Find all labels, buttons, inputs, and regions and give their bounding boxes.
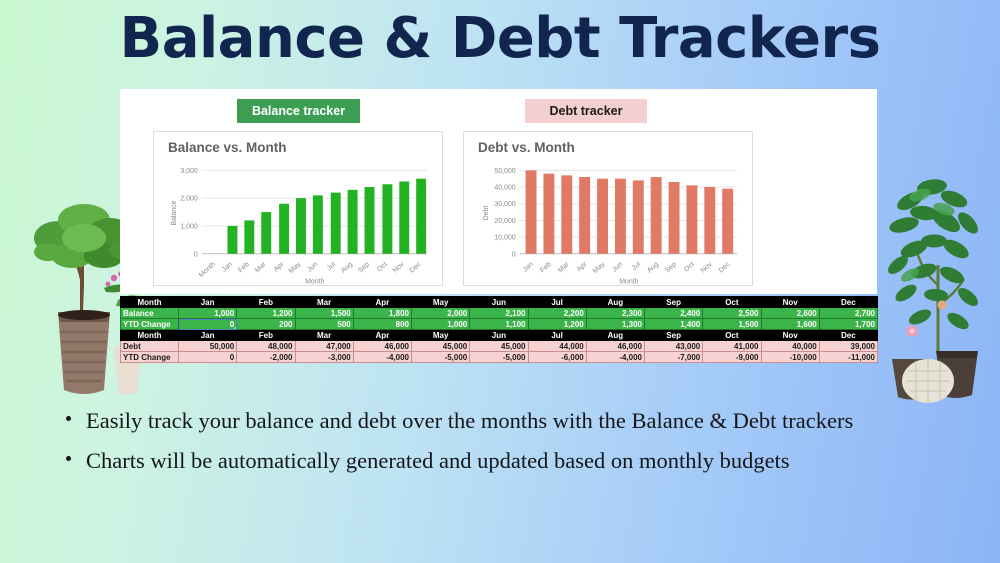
bullet-text: Easily track your balance and debt over … (86, 408, 853, 433)
debt-bar-chart: 50,000 40,000 30,000 20,000 10,000 0 Deb… (464, 158, 752, 286)
svg-text:Balance: Balance (171, 200, 178, 225)
table-cell[interactable]: 0 (179, 319, 237, 330)
table-cell[interactable]: 43,000 (645, 341, 703, 352)
table-header-cell: Mar (295, 297, 353, 308)
table-header-cell: Jun (470, 297, 528, 308)
table-header-cell: Sep (645, 297, 703, 308)
list-item: Easily track your balance and debt over … (60, 402, 940, 440)
table-cell[interactable]: 2,500 (703, 308, 761, 319)
table-header-cell: Apr (353, 330, 411, 341)
svg-text:3,000: 3,000 (180, 168, 198, 175)
svg-text:Jan: Jan (522, 261, 535, 274)
table-cell[interactable]: -4,000 (586, 352, 644, 363)
table-header-cell: Nov (761, 297, 819, 308)
table-cell[interactable]: 39,000 (819, 341, 877, 352)
svg-text:Aug: Aug (340, 261, 354, 275)
table-cell[interactable]: 1,600 (761, 319, 819, 330)
table-cell[interactable]: 2,400 (645, 308, 703, 319)
table-header-cell: Dec (819, 297, 877, 308)
svg-text:Month: Month (305, 279, 324, 286)
table-cell[interactable]: 1,000 (179, 308, 237, 319)
page-title: Balance & Debt Trackers (0, 8, 1000, 70)
svg-text:50,000: 50,000 (494, 168, 515, 175)
svg-text:Nov: Nov (700, 261, 714, 275)
table-cell[interactable]: -9,000 (703, 352, 761, 363)
svg-text:May: May (592, 261, 607, 275)
table-cell[interactable]: 47,000 (295, 341, 353, 352)
svg-text:Jul: Jul (631, 261, 643, 272)
svg-text:Debt: Debt (483, 206, 490, 221)
row-label-cell[interactable]: Debt (121, 341, 179, 352)
table-header-cell: Feb (237, 297, 295, 308)
table-cell[interactable]: -10,000 (761, 352, 819, 363)
table-cell[interactable]: 1,800 (353, 308, 411, 319)
table-cell[interactable]: -4,000 (353, 352, 411, 363)
debt-chart-card[interactable]: Debt vs. Month 50,000 40,000 30,000 20,0… (463, 131, 753, 286)
svg-text:Feb: Feb (237, 261, 251, 274)
table-cell[interactable]: 1,300 (586, 319, 644, 330)
table-cell[interactable]: 1,500 (295, 308, 353, 319)
table-header-cell: Mar (295, 330, 353, 341)
debt-chart-title: Debt vs. Month (478, 140, 575, 155)
svg-text:Month: Month (198, 261, 217, 279)
table-cell[interactable]: 2,200 (528, 308, 586, 319)
table-cell[interactable]: 41,000 (703, 341, 761, 352)
table-cell[interactable]: -5,000 (470, 352, 528, 363)
potted-plants-icon (880, 155, 1000, 405)
table-header-cell: Oct (703, 330, 761, 341)
table-cell[interactable]: 50,000 (179, 341, 237, 352)
table-header-cell: Dec (819, 330, 877, 341)
svg-text:Sep: Sep (357, 261, 371, 275)
table-cell[interactable]: -11,000 (819, 352, 877, 363)
table-row[interactable]: Balance1,0001,2001,5001,8002,0002,1002,2… (121, 308, 878, 319)
tracker-data-table[interactable]: MonthJanFebMarAprMayJunJulAugSepOctNovDe… (120, 296, 878, 363)
table-header-cell: Jul (528, 330, 586, 341)
svg-text:0: 0 (194, 251, 198, 258)
table-cell[interactable]: 46,000 (353, 341, 411, 352)
table-header-cell: May (412, 297, 470, 308)
table-header-cell: May (412, 330, 470, 341)
svg-text:Dec: Dec (718, 261, 732, 275)
svg-text:Nov: Nov (392, 261, 406, 275)
svg-text:Month: Month (619, 279, 638, 286)
table-cell[interactable]: 45,000 (412, 341, 470, 352)
svg-text:Jun: Jun (306, 261, 319, 274)
table-header-cell: Feb (237, 330, 295, 341)
balance-header-row: MonthJanFebMarAprMayJunJulAugSepOctNovDe… (121, 297, 878, 308)
table-cell[interactable]: 48,000 (237, 341, 295, 352)
table-cell[interactable]: 1,100 (470, 319, 528, 330)
svg-text:Jan: Jan (221, 261, 234, 274)
table-cell[interactable]: 45,000 (470, 341, 528, 352)
svg-text:30,000: 30,000 (494, 201, 515, 208)
svg-text:10,000: 10,000 (494, 235, 515, 242)
svg-text:Oct: Oct (683, 261, 696, 273)
table-header-cell: Aug (586, 330, 644, 341)
table-cell[interactable]: 500 (295, 319, 353, 330)
svg-text:Apr: Apr (273, 261, 286, 274)
svg-text:May: May (288, 261, 303, 275)
table-cell[interactable]: 1,500 (703, 319, 761, 330)
table-header-cell: Apr (353, 297, 411, 308)
table-cell[interactable]: 1,200 (237, 308, 295, 319)
table-cell[interactable]: 46,000 (586, 341, 644, 352)
svg-text:2,000: 2,000 (180, 196, 198, 203)
balance-chart-title: Balance vs. Month (168, 140, 287, 155)
table-cell[interactable]: 2,700 (819, 308, 877, 319)
table-cell[interactable]: -2,000 (237, 352, 295, 363)
svg-text:Apr: Apr (576, 261, 589, 274)
table-cell[interactable]: 1,200 (528, 319, 586, 330)
table-cell[interactable]: 1,400 (645, 319, 703, 330)
table-cell[interactable]: -6,000 (528, 352, 586, 363)
svg-text:0: 0 (512, 251, 516, 258)
table-row[interactable]: YTD Change02005008001,0001,1001,2001,300… (121, 319, 878, 330)
table-header-cell: Nov (761, 330, 819, 341)
table-cell[interactable]: 1,700 (819, 319, 877, 330)
svg-text:Jul: Jul (326, 261, 338, 272)
table-header-cell: Jul (528, 297, 586, 308)
table-header-cell: Oct (703, 297, 761, 308)
table-cell[interactable]: 2,600 (761, 308, 819, 319)
bullet-dot-icon (66, 456, 71, 461)
svg-text:Dec: Dec (409, 261, 423, 275)
svg-text:20,000: 20,000 (494, 218, 515, 225)
spreadsheet-sheet: Balance tracker Debt tracker Balance vs.… (120, 89, 877, 294)
svg-text:Mar: Mar (557, 261, 571, 275)
table-cell[interactable]: -5,000 (412, 352, 470, 363)
svg-text:40,000: 40,000 (494, 185, 515, 192)
svg-text:Jun: Jun (611, 261, 624, 274)
bullet-text: Charts will be automatically generated a… (86, 448, 790, 473)
balance-bar-chart: 3,000 2,000 1,000 0 Balance (154, 158, 442, 286)
table-cell[interactable]: 44,000 (528, 341, 586, 352)
tracker-chip-row: Balance tracker Debt tracker (120, 99, 877, 125)
table-header-cell: Aug (586, 297, 644, 308)
table-header-cell: Jan (179, 297, 237, 308)
table-cell[interactable]: 200 (237, 319, 295, 330)
selection-handle[interactable] (234, 327, 237, 330)
svg-text:Feb: Feb (539, 261, 553, 274)
table-header-cell: Jan (179, 330, 237, 341)
balance-tracker-chip[interactable]: Balance tracker (237, 99, 360, 123)
svg-text:Oct: Oct (376, 261, 389, 273)
table-row[interactable]: YTD Change0-2,000-3,000-4,000-5,000-5,00… (121, 352, 878, 363)
table-cell[interactable]: 2,000 (412, 308, 470, 319)
balance-chart-card[interactable]: Balance vs. Month 3,000 2,000 1,000 0 Ba… (153, 131, 443, 286)
table-cell[interactable]: -3,000 (295, 352, 353, 363)
table-header-cell: Jun (470, 330, 528, 341)
table-row[interactable]: Debt50,00048,00047,00046,00045,00045,000… (121, 341, 878, 352)
table-cell[interactable]: 2,100 (470, 308, 528, 319)
table-cell[interactable]: 800 (353, 319, 411, 330)
svg-text:Aug: Aug (646, 261, 660, 275)
row-label-cell[interactable]: Balance (121, 308, 179, 319)
table-header-cell: Month (121, 297, 179, 308)
table-cell[interactable]: -7,000 (645, 352, 703, 363)
table-cell[interactable]: 2,300 (586, 308, 644, 319)
svg-text:Sep: Sep (664, 261, 678, 275)
debt-tracker-chip[interactable]: Debt tracker (525, 99, 647, 123)
table-cell[interactable]: 1,000 (412, 319, 470, 330)
bullet-dot-icon (66, 416, 71, 421)
svg-text:Mar: Mar (254, 261, 268, 275)
table-cell[interactable]: 0 (179, 352, 237, 363)
bullet-list: Easily track your balance and debt over … (60, 402, 940, 482)
debt-header-row: MonthJanFebMarAprMayJunJulAugSepOctNovDe… (121, 330, 878, 341)
list-item: Charts will be automatically generated a… (60, 442, 940, 480)
svg-text:1,000: 1,000 (180, 223, 198, 230)
table-header-cell: Sep (645, 330, 703, 341)
row-label-cell[interactable]: YTD Change (121, 319, 179, 330)
row-label-cell[interactable]: YTD Change (121, 352, 179, 363)
table-header-cell: Month (121, 330, 179, 341)
table-cell[interactable]: 40,000 (761, 341, 819, 352)
